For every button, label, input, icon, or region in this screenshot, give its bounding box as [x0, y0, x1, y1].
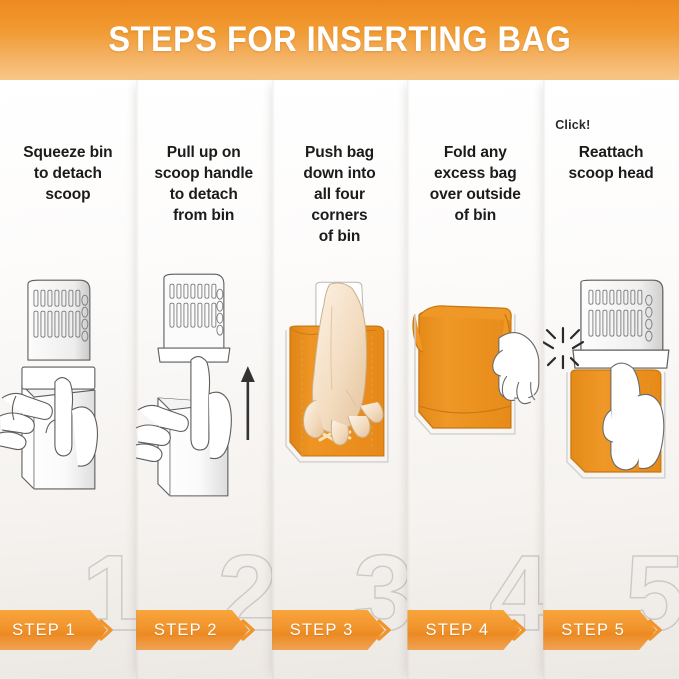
- step-banner-3[interactable]: STEP 3: [272, 610, 390, 650]
- step-banner-5[interactable]: STEP 5: [543, 610, 661, 650]
- step-banner-label: STEP 3: [272, 610, 372, 650]
- chevron-right-icon: [240, 619, 256, 641]
- click-annotation: Click!: [555, 118, 590, 132]
- caption-line: down into: [276, 163, 404, 184]
- up-arrow-icon: [241, 366, 255, 440]
- step-illustration-4: [407, 270, 543, 570]
- caption-line: of bin: [276, 226, 404, 247]
- step-banner-4[interactable]: STEP 4: [407, 610, 525, 650]
- step-illustration-3: [272, 270, 408, 570]
- step-banner-label: STEP 1: [0, 610, 94, 650]
- step-caption-5: Reattach scoop head: [547, 142, 675, 184]
- step-panel-4: Fold any excess bag over outside of bin: [407, 80, 543, 679]
- step-caption-4: Fold any excess bag over outside of bin: [411, 142, 539, 226]
- caption-line: to detach: [140, 184, 268, 205]
- caption-line: over outside: [411, 184, 539, 205]
- caption-line: all four: [276, 184, 404, 205]
- step-banner-2[interactable]: STEP 2: [136, 610, 254, 650]
- step-illustration-1: [0, 270, 136, 570]
- caption-line: to detach: [4, 163, 132, 184]
- caption-line: scoop head: [547, 163, 675, 184]
- step-caption-1: Squeeze bin to detach scoop: [4, 142, 132, 205]
- caption-line: Pull up on: [140, 142, 268, 163]
- step-illustration-2: [136, 270, 272, 570]
- caption-line: Push bag: [276, 142, 404, 163]
- steps-container: Squeeze bin to detach scoop: [0, 80, 679, 679]
- step-panel-2: Pull up on scoop handle to detach from b…: [136, 80, 272, 679]
- step-illustration-5: [543, 270, 679, 570]
- caption-line: Fold any: [411, 142, 539, 163]
- caption-line: of bin: [411, 205, 539, 226]
- page-title: STEPS FOR INSERTING BAG: [108, 20, 571, 60]
- caption-line: excess bag: [411, 163, 539, 184]
- step-panel-1: Squeeze bin to detach scoop: [0, 80, 136, 679]
- step-panel-5: Reattach scoop head: [543, 80, 679, 679]
- chevron-right-icon: [511, 619, 527, 641]
- chevron-right-icon: [98, 619, 114, 641]
- step-banner-label: STEP 5: [543, 610, 643, 650]
- caption-line: scoop handle: [140, 163, 268, 184]
- step-banner-label: STEP 4: [407, 610, 507, 650]
- step-banner-label: STEP 2: [136, 610, 236, 650]
- caption-line: Reattach: [547, 142, 675, 163]
- caption-line: corners: [276, 205, 404, 226]
- caption-line: Squeeze bin: [4, 142, 132, 163]
- step-banner-1[interactable]: STEP 1: [0, 610, 112, 650]
- chevron-right-icon: [647, 619, 663, 641]
- infographic-page: STEPS FOR INSERTING BAG Squeeze bin to d…: [0, 0, 679, 679]
- step-caption-2: Pull up on scoop handle to detach from b…: [140, 142, 268, 226]
- step-caption-3: Push bag down into all four corners of b…: [276, 142, 404, 247]
- header-banner: STEPS FOR INSERTING BAG: [0, 0, 679, 80]
- caption-line: scoop: [4, 184, 132, 205]
- caption-line: from bin: [140, 205, 268, 226]
- chevron-right-icon: [376, 619, 392, 641]
- step-panel-3: Push bag down into all four corners of b…: [272, 80, 408, 679]
